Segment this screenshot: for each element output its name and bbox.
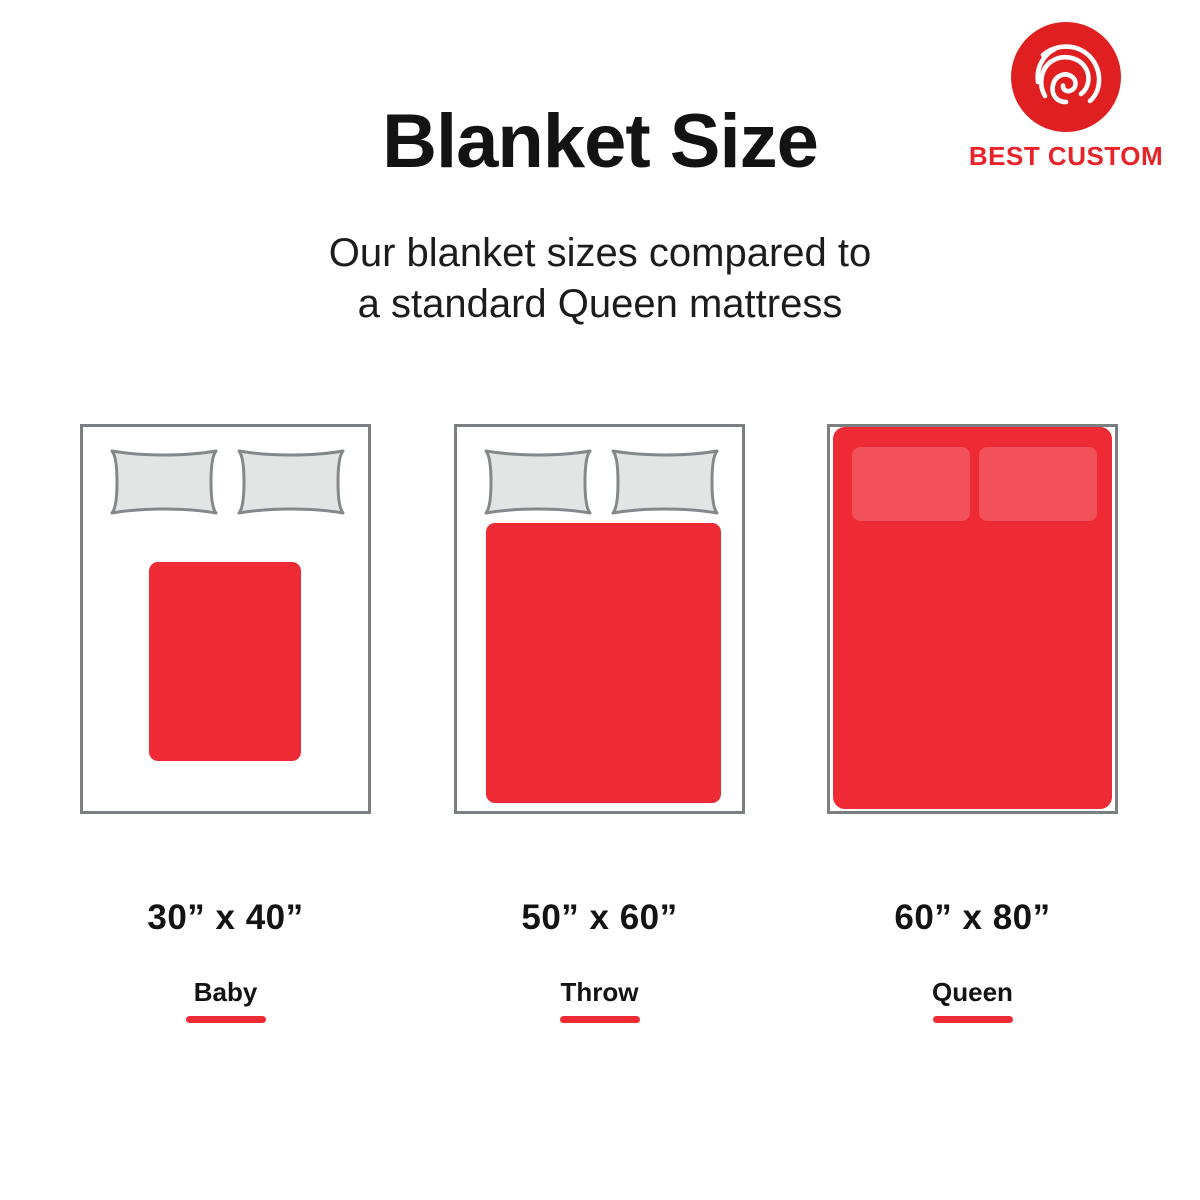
accent-rule: [933, 1016, 1013, 1023]
size-label: 30” x 40”: [80, 900, 371, 935]
accent-rule: [186, 1016, 266, 1023]
pillow-through-blanket-icon: [852, 447, 970, 521]
pillow-icon: [479, 445, 597, 519]
bed-diagram-throw: [454, 424, 745, 814]
page-title: Blanket Size: [0, 104, 1200, 180]
blanket-overlay-baby: [149, 562, 301, 761]
bed-diagram-baby: [80, 424, 371, 814]
size-name: Queen: [827, 979, 1118, 1005]
bed-comparison-row: [0, 424, 1200, 816]
blanket-overlay-queen: [833, 427, 1112, 809]
bed-diagram-queen: [827, 424, 1118, 814]
page-subtitle: Our blanket sizes compared to a standard…: [0, 228, 1200, 330]
accent-rule: [560, 1016, 640, 1023]
pillow-icon: [105, 445, 223, 519]
caption-queen: 60” x 80” Queen: [827, 900, 1118, 1023]
pillow-through-blanket-icon: [979, 447, 1097, 521]
size-name: Throw: [454, 979, 745, 1005]
blanket-overlay-throw: [486, 523, 721, 803]
size-label: 60” x 80”: [827, 900, 1118, 935]
size-name: Baby: [80, 979, 371, 1005]
caption-row: 30” x 40” Baby 50” x 60” Throw 60” x 80”…: [0, 900, 1200, 1040]
pillow-icon: [606, 445, 724, 519]
pillow-icon: [232, 445, 350, 519]
size-label: 50” x 60”: [454, 900, 745, 935]
caption-throw: 50” x 60” Throw: [454, 900, 745, 1023]
infographic-canvas: BEST CUSTOM Blanket Size Our blanket siz…: [0, 0, 1200, 1200]
caption-baby: 30” x 40” Baby: [80, 900, 371, 1023]
